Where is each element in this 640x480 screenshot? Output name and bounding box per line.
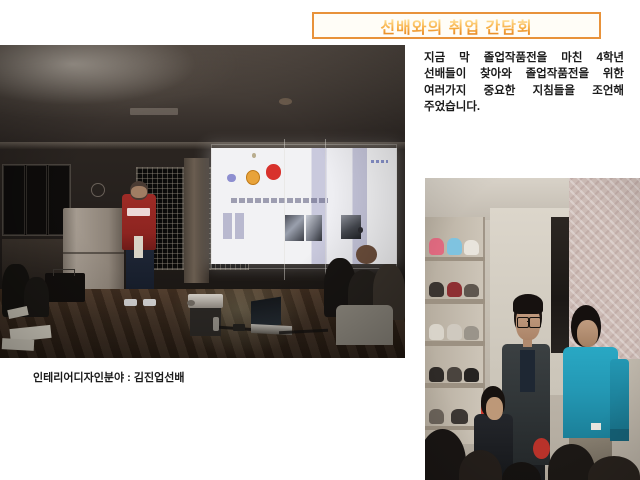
shoe-item (447, 238, 462, 255)
room-door (284, 139, 327, 280)
speaker-two-face (577, 320, 599, 347)
presenter-handout (134, 236, 143, 258)
shoe-shelf-board-3 (425, 341, 485, 346)
photo-left-seminar-room (0, 45, 405, 358)
presenter-shoe-left (124, 299, 137, 307)
slide-title-banner: 선배와의 취업 간담회 (312, 12, 601, 39)
audience-bag-handle (53, 269, 75, 276)
window (2, 164, 71, 236)
audience-member-right-head (356, 245, 376, 264)
glasses-lens-right-icon (529, 317, 541, 328)
ceiling (0, 45, 405, 151)
speaker-two-arm (610, 359, 629, 438)
shoe-item (447, 367, 462, 382)
audience-member-right-d (336, 305, 393, 346)
floor-paper-b (2, 338, 35, 351)
shoe-item (464, 240, 479, 255)
shoe-item (464, 368, 479, 382)
speaker-one-hair (513, 294, 543, 314)
shoe-shelf-board-1 (425, 257, 485, 262)
shoe-item (429, 238, 444, 255)
power-adapter (233, 324, 245, 332)
presenter-shirt-logo (127, 208, 150, 216)
shoe-item (451, 409, 468, 424)
speaker-two-pocket-tag (591, 423, 602, 431)
foreground-red-object (533, 438, 550, 459)
glasses-bridge-icon (527, 321, 530, 323)
shoe-shelf-board-2 (425, 299, 485, 304)
dark-doorway (551, 217, 569, 353)
shoe-item (429, 367, 444, 382)
shoe-item (464, 284, 479, 298)
speaker-one-shirt (520, 350, 535, 392)
shoe-item (429, 282, 444, 297)
shoe-item (447, 324, 462, 339)
photo-left-caption: 인테리어디자인분야 : 김진업선배 (33, 369, 184, 385)
microphone (213, 317, 219, 331)
presenter-face (131, 186, 146, 197)
shoe-item (429, 324, 444, 339)
photo-right-entry-hall (425, 178, 640, 480)
ceiling-vent (130, 108, 179, 116)
glasses-lens-left-icon (517, 317, 529, 328)
shoe-item (447, 282, 462, 297)
audience-bag (45, 273, 86, 301)
shoe-shelf-board-4 (425, 383, 485, 388)
shoe-item (429, 409, 444, 424)
presenter-shoe-right (143, 299, 156, 307)
refrigerator-door-seam (63, 252, 124, 254)
slide-title-text: 선배와의 취업 간담회 (380, 14, 532, 38)
wall-pillar (184, 158, 208, 283)
shoe-item (464, 326, 479, 340)
slide-body-paragraph: 지금 막 졸업작품전을 마친 4학년 선배들이 찾아와 졸업작품전을 위한 여러… (424, 50, 624, 115)
seated-student-face (486, 397, 503, 420)
speaker-two-sleeve-cuff (610, 429, 629, 441)
